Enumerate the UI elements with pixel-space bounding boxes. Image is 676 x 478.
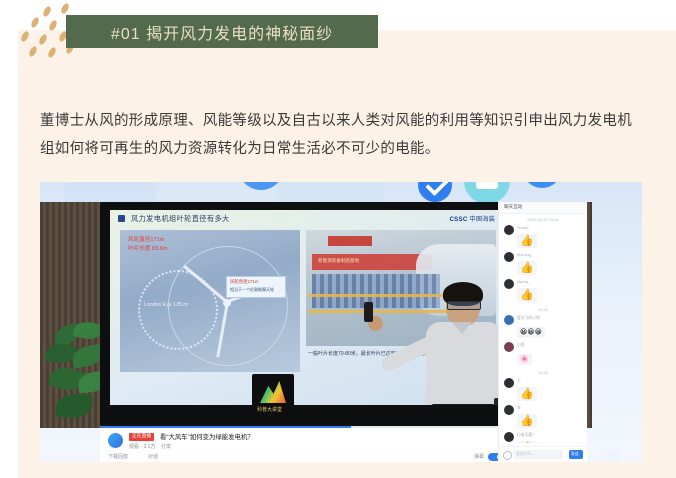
chat-emoji: 👍: [517, 261, 537, 275]
presenter: [398, 286, 502, 405]
slide-title: 风力发电机组叶轮直径有多大: [131, 214, 230, 224]
chat-emoji: 🌸: [517, 354, 532, 365]
page-root: #01 揭开风力发电的神秘面纱 董博士从风的形成原理、风能等级以及自古以来人类对…: [0, 0, 676, 478]
danmaku-label: 弹幕: [474, 453, 484, 460]
slide-annotation-1: 风轮直径171m: [128, 235, 164, 243]
chat-header-title: 聊天互动: [504, 204, 522, 210]
chat-timestamp: 15:41: [499, 307, 587, 312]
chat-sender: Mandy_: [517, 279, 587, 285]
chat-message: 行者无疆✌ 👍: [499, 432, 587, 443]
lecture-photo: 风力发电机组叶轮直径有多大 CSSC 中国海装 风轮直径171m 叶片长度 83…: [40, 182, 642, 462]
emoji-icon[interactable]: [503, 451, 512, 460]
slide-annotation-2: 叶片长度 83.6m: [128, 244, 167, 252]
chat-message: 小鱼 🌸: [499, 342, 587, 366]
avatar[interactable]: [504, 378, 514, 388]
chevron-down-icon: [418, 182, 452, 202]
chat-sender: Sunny_: [517, 225, 587, 231]
slide-header: 风力发电机组叶轮直径有多大 CSSC 中国海装: [110, 210, 502, 227]
avatar[interactable]: [504, 432, 514, 442]
slide-logo-en: CSSC: [450, 216, 468, 223]
chat-emoji: 👍: [517, 288, 537, 302]
slide-left-figure: 风轮直径171m 叶片长度 83.6m London Eye 135 m 风轮直…: [120, 230, 300, 372]
factory-banner-text: 新能源装备制造基地: [318, 258, 359, 264]
chat-sender: 爱学习的小明: [517, 315, 587, 321]
chat-message: Sunny_ 👍: [499, 225, 587, 249]
turbine-hub: [223, 299, 231, 307]
download-replay-button[interactable]: 下载回放: [108, 453, 128, 460]
chat-message-list[interactable]: 2023-06-15 15:40 Sunny_ 👍 Morning_ 👍 Man…: [499, 213, 587, 443]
body-paragraph: 董博士从风的形成原理、风能等级以及自古以来人类对风能的利用等知识引申出风力发电机…: [40, 107, 642, 163]
section-title-text: #01 揭开风力发电的神秘面纱: [111, 20, 333, 44]
chat-emoji: 😀😀😀: [517, 327, 545, 338]
callout-subtitle: 相当于一个伦敦眼摩天轮: [230, 287, 274, 293]
presenter-clicker: [364, 302, 373, 322]
channel-avatar[interactable]: [108, 433, 123, 448]
chat-sender: 王: [517, 378, 587, 384]
live-badge: 正在直播: [129, 433, 154, 441]
chat-sender: Morning_: [517, 252, 587, 258]
video-player-bar: 正在直播 看“大风车”如何变为绿能发电机？ 观看 · 3.1万 分享 下载回放 …: [100, 426, 512, 462]
chat-timestamp: 2023-06-15 15:40: [499, 217, 587, 222]
chat-sender: 李: [517, 405, 587, 411]
avatar[interactable]: [504, 315, 514, 325]
slide-content: 风力发电机组叶轮直径有多大 CSSC 中国海装 风轮直径171m 叶片长度 83…: [110, 210, 502, 405]
callout-title: 风轮直径171m: [230, 279, 259, 285]
chat-message: Morning_ 👍: [499, 252, 587, 276]
avatar[interactable]: [504, 225, 514, 235]
chat-panel: 聊天互动 2023-06-15 15:40 Sunny_ 👍 Morning_ …: [498, 202, 587, 462]
chat-emoji: 👍: [517, 387, 537, 401]
white-left-strip: [0, 0, 18, 478]
slide-callout-box: 风轮直径171m 相当于一个伦敦眼摩天轮: [226, 276, 286, 298]
chat-input-field[interactable]: 说点什么...: [513, 450, 563, 459]
section-title-banner: #01 揭开风力发电的神秘面纱: [66, 15, 378, 48]
slide-logo-cn: 中国海装: [469, 216, 495, 223]
avatar[interactable]: [504, 252, 514, 262]
presentation-screen: 风力发电机组叶轮直径有多大 CSSC 中国海装 风轮直径171m 叶片长度 83…: [100, 202, 512, 426]
share-label[interactable]: 分享: [161, 444, 171, 450]
chat-button[interactable]: 对话: [148, 453, 158, 460]
chat-message: 王 👍: [499, 378, 587, 402]
glasses-icon: [447, 301, 481, 310]
chat-input-placeholder: 说点什么...: [516, 452, 534, 457]
bullet-icon: [118, 215, 125, 222]
chat-timestamp: 15:42: [499, 370, 587, 375]
podium: 科普大讲堂: [252, 374, 294, 428]
podium-logo-text: 科普大讲堂: [257, 406, 282, 413]
send-button[interactable]: 发送: [569, 450, 583, 459]
decorative-circle-icon: [522, 182, 562, 188]
chat-message: 爱学习的小明 😀😀😀: [499, 315, 587, 339]
video-meta: 观看 · 3.1万 分享: [129, 443, 171, 450]
chat-message: 李 👍: [499, 405, 587, 429]
video-title: 看“大风车”如何变为绿能发电机？: [160, 432, 254, 441]
progress-bar[interactable]: [100, 426, 512, 428]
card-icon: [464, 182, 510, 204]
player-footer: 下载回放 对话 弹幕: [100, 452, 512, 462]
floating-action-icon[interactable]: [606, 450, 620, 461]
factory-banner: 新能源装备制造基地: [312, 254, 432, 270]
chat-input-bar: 说点什么... 发送: [499, 446, 587, 462]
avatar[interactable]: [504, 405, 514, 415]
avatar[interactable]: [504, 342, 514, 352]
chat-sender: 行者无疆✌: [517, 432, 587, 438]
chat-emoji: 👍: [517, 441, 537, 443]
slide-logo: CSSC 中国海装: [450, 214, 495, 223]
views-count: 观看 · 3.1万: [129, 444, 155, 450]
chat-emoji: 👍: [517, 234, 537, 248]
send-button-label: 发送: [571, 452, 579, 457]
podium-logo-icon: [260, 381, 286, 403]
avatar[interactable]: [504, 279, 514, 289]
chat-message: Mandy_ 👍: [499, 279, 587, 303]
chat-sender: 小鱼: [517, 342, 587, 348]
presenter-pants: [430, 404, 496, 405]
chat-emoji: 👍: [517, 414, 537, 428]
factory-small-banner: [328, 236, 372, 246]
